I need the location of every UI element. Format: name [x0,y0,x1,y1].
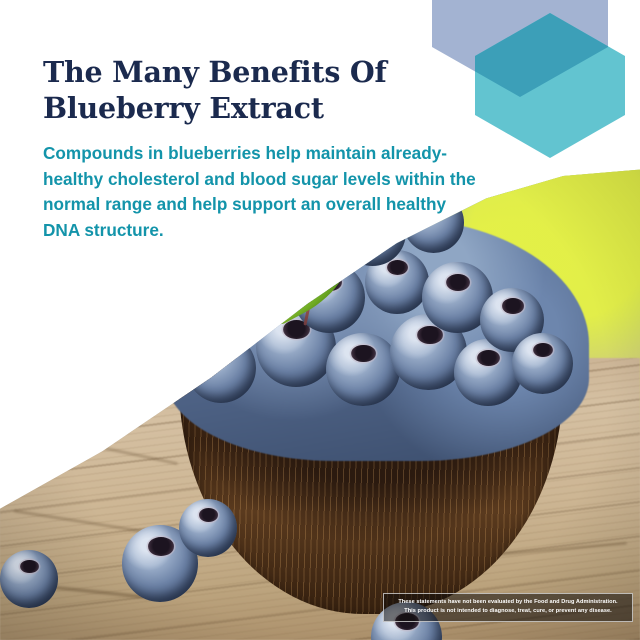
hexagon-teal [475,13,625,158]
page-title: The Many Benefits Of Blueberry Extract [43,54,473,126]
disclaimer-line-2: This product is not intended to diagnose… [390,607,626,616]
disclaimer-line-1: These statements have not been evaluated… [390,598,626,607]
blueberry [218,282,276,340]
headline-line-1: The Many Benefits Of [43,54,473,90]
body-copy: Compounds in blueberries help maintain a… [43,141,483,243]
fda-disclaimer: These statements have not been evaluated… [383,593,633,622]
berry-crown [210,344,234,361]
poster-canvas: The Many Benefits Of Blueberry Extract C… [0,0,640,640]
headline-line-2: Blueberry Extract [43,90,473,126]
berry-crown [237,291,257,305]
